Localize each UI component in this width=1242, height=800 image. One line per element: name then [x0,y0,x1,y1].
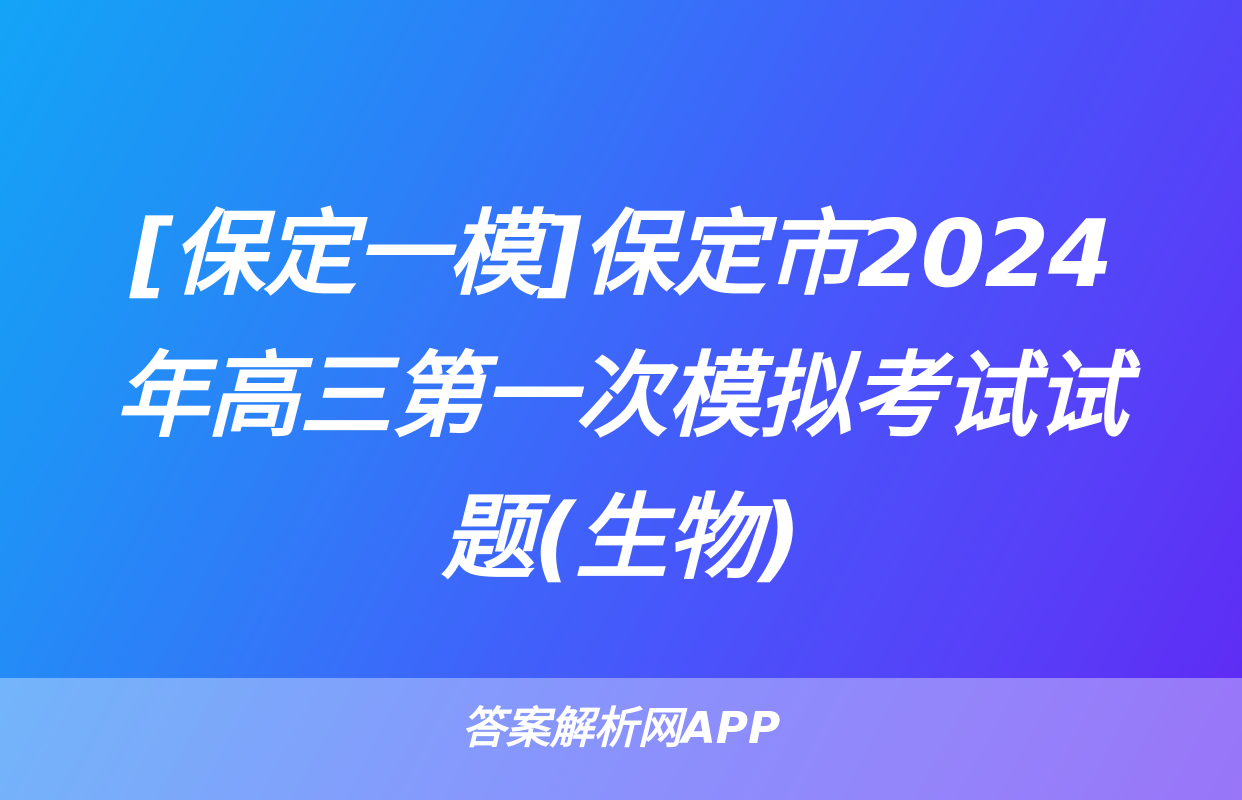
title-line-1: [保定一模]保定市2024 [26,183,1216,325]
title-line-2: 年高三第一次模拟考试试 [26,325,1216,467]
exam-cover-poster: [保定一模]保定市2024 年高三第一次模拟考试试 题(生物) 答案解析网APP [0,0,1242,800]
page-title: [保定一模]保定市2024 年高三第一次模拟考试试 题(生物) [0,183,1242,609]
title-line-3: 题(生物) [26,467,1216,609]
watermark: 答案解析网APP [0,703,1242,755]
watermark-brand-label: 答案解析网APP [462,703,781,755]
